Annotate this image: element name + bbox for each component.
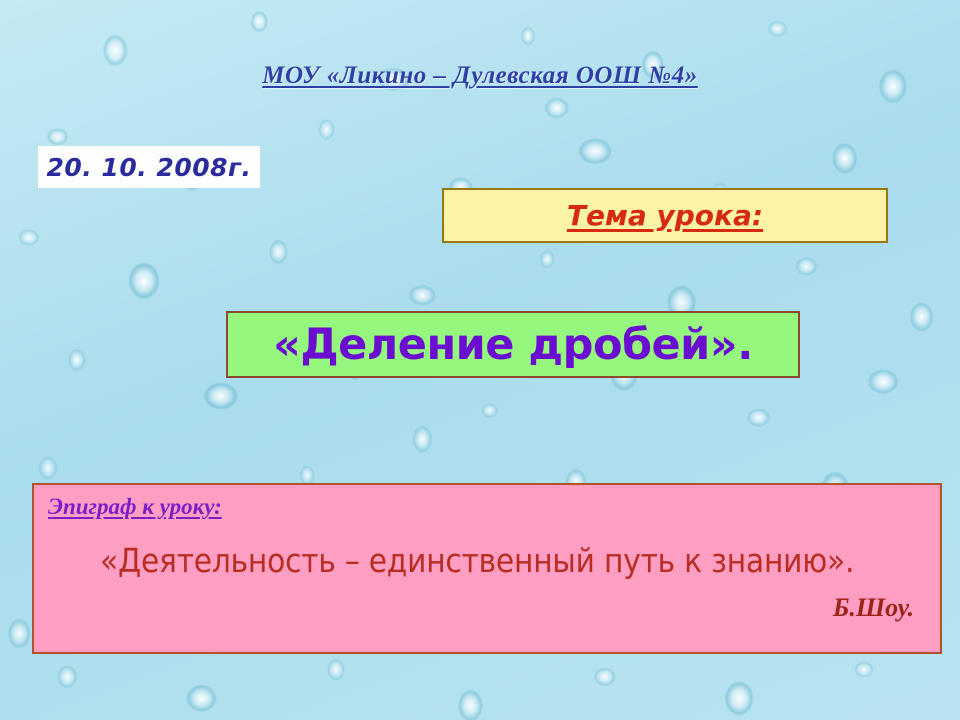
topic-label-box: Тема урока: xyxy=(442,188,888,243)
school-name-heading: МОУ «Ликино – Дулевская ООШ №4» xyxy=(0,62,960,90)
date-box: 20. 10. 2008г. xyxy=(38,146,260,188)
epigraph-label-row: Эпиграф к уроку: xyxy=(48,494,926,520)
epigraph-quote-text: «Деятельность – единственный путь к знан… xyxy=(48,541,926,580)
lesson-topic-text: «Деление дробей». xyxy=(273,320,753,370)
epigraph-box: Эпиграф к уроку: «Деятельность – единств… xyxy=(32,483,942,654)
topic-label-text: Тема урока: xyxy=(567,199,763,232)
lesson-date-text: 20. 10. 2008г. xyxy=(46,153,251,182)
presentation-slide: МОУ «Ликино – Дулевская ООШ №4» 20. 10. … xyxy=(0,0,960,720)
epigraph-author-text: Б.Шоу. xyxy=(48,593,926,623)
epigraph-label-text: Эпиграф к уроку: xyxy=(48,494,222,520)
lesson-topic-box: «Деление дробей». xyxy=(226,311,800,378)
